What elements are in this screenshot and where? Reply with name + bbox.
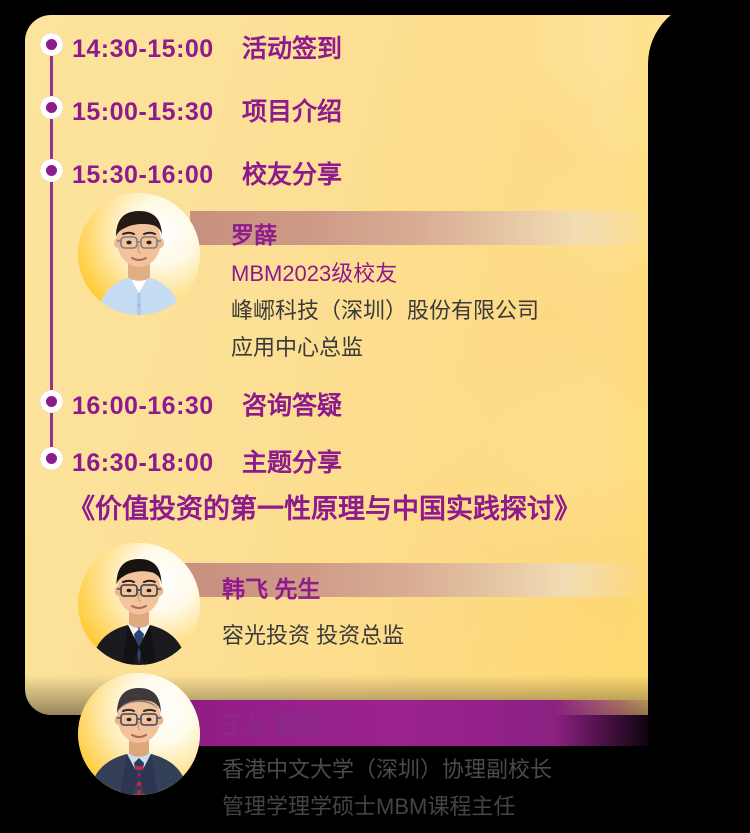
speaker-detail-1-2: 应用中心总监	[231, 330, 363, 362]
talk-title: 《价值投资的第一性原理与中国实践探讨》	[68, 487, 581, 526]
speaker-detail-1-0: MBM2023级校友	[231, 256, 397, 288]
timeline-item-4: 16:00-16:30咨询答疑	[72, 386, 342, 422]
timeline-dot-3	[40, 159, 63, 182]
timeline-item-title: 主题分享	[242, 443, 342, 479]
avatar-speaker-1	[78, 193, 200, 315]
timeline-item-time: 16:30-18:00	[72, 449, 242, 478]
timeline-item-title: 咨询答疑	[242, 386, 342, 422]
avatar-speaker-3	[78, 673, 200, 795]
timeline-item-2: 15:00-15:30项目介绍	[72, 92, 342, 128]
card-right-mask	[648, 0, 750, 833]
timeline-item-1: 14:30-15:00活动签到	[72, 29, 342, 65]
timeline-item-5: 16:30-18:00主题分享	[72, 443, 342, 479]
portrait-wang-cong-icon	[78, 673, 200, 795]
speaker-name-2: 韩飞 先生	[222, 570, 320, 604]
speaker-detail-2-0: 容光投资 投资总监	[222, 618, 404, 650]
speaker-detail-3-1: 管理学理学硕士MBM课程主任	[222, 789, 515, 821]
portrait-luo-xue-icon	[78, 193, 200, 315]
timeline-dot-4	[40, 390, 63, 413]
timeline-item-time: 15:30-16:00	[72, 161, 242, 190]
speaker-name-1: 罗薛	[231, 216, 277, 250]
timeline-item-time: 14:30-15:00	[72, 35, 242, 64]
timeline-item-title: 活动签到	[242, 29, 342, 65]
timeline-item-title: 项目介绍	[242, 92, 342, 128]
timeline-item-3: 15:30-16:00校友分享	[72, 155, 342, 191]
speaker-name-3: 王丛 教授	[222, 706, 320, 740]
timeline-dot-1	[40, 33, 63, 56]
speaker-detail-3-0: 香港中文大学（深圳）协理副校长	[222, 752, 552, 784]
timeline-dot-5	[40, 447, 63, 470]
avatar-speaker-2	[78, 543, 200, 665]
timeline-item-title: 校友分享	[242, 155, 342, 191]
poster-canvas: 14:30-15:00活动签到 15:00-15:30项目介绍 15:30-16…	[0, 0, 750, 833]
timeline-item-time: 15:00-15:30	[72, 98, 242, 127]
speaker-detail-1-1: 峰峫科技（深圳）股份有限公司	[231, 293, 539, 325]
timeline-dot-2	[40, 96, 63, 119]
timeline-item-time: 16:00-16:30	[72, 392, 242, 421]
portrait-han-fei-icon	[78, 543, 200, 665]
